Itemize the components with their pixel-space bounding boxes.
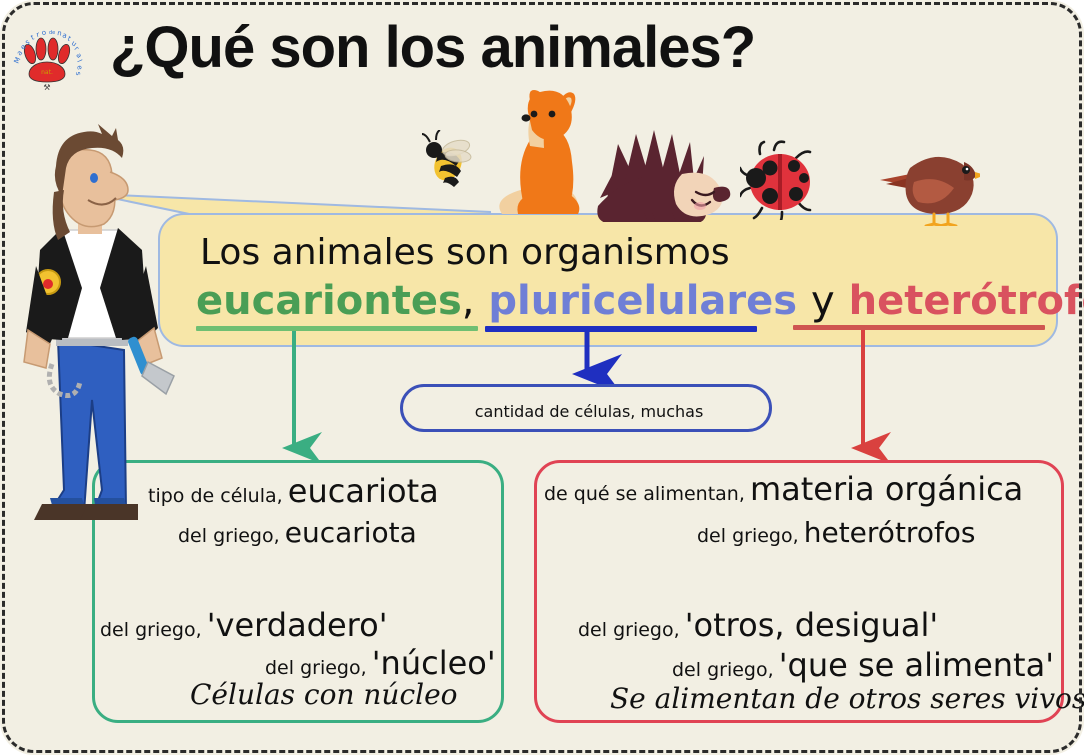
- green-row-4-lead: del griego,: [265, 657, 367, 679]
- red-row-1-term: materia orgánica: [750, 470, 1023, 508]
- cartoon-teacher: [6, 100, 186, 520]
- red-row-3-lead: del griego,: [578, 619, 680, 641]
- green-row-3-lead: del griego,: [100, 619, 202, 641]
- green-row-2-term: eucariota: [285, 516, 417, 549]
- cell-count-box: cantidad de células, muchas: [400, 384, 772, 432]
- red-row-1-lead: de qué se alimentan,: [544, 483, 745, 505]
- green-row-3: del griego, 'verdadero': [100, 606, 388, 644]
- cell-count-text: cantidad de células, muchas: [403, 387, 775, 435]
- svg-text:nat.: nat.: [41, 69, 53, 76]
- svg-text:de: de: [49, 30, 55, 36]
- green-conclusion: Células con núcleo: [190, 678, 458, 711]
- green-row-4-term: 'núcleo': [372, 644, 496, 682]
- svg-text:e: e: [75, 64, 84, 70]
- green-row-4: del griego, 'núcleo': [265, 644, 496, 682]
- green-row-1-term: eucariota: [288, 472, 439, 510]
- bee-illustration: [418, 130, 474, 188]
- red-row-4-lead: del griego,: [672, 659, 774, 681]
- main-statement-line2: eucariontes, pluricelulares y heterótrof…: [196, 278, 1084, 324]
- svg-text:r: r: [36, 30, 41, 38]
- fox-illustration: [488, 88, 596, 218]
- term-eucariontes: eucariontes: [196, 278, 462, 324]
- bird-illustration: [880, 148, 980, 226]
- red-row-2-lead: del griego,: [697, 525, 799, 547]
- red-row-3-term: 'otros, desigual': [685, 606, 938, 644]
- maestro-de-naturales-paw-logo: nat. M a e s t r o de n a t u r a l e s …: [8, 18, 86, 92]
- underline-pluricelulares: [485, 326, 757, 332]
- green-row-2-lead: del griego,: [178, 525, 280, 547]
- hedgehog-illustration: [596, 126, 732, 222]
- underline-eucariontes: [196, 326, 478, 331]
- main-statement-line1: Los animales son organismos: [200, 232, 730, 273]
- svg-text:s: s: [74, 71, 82, 76]
- red-conclusion: Se alimentan de otros seres vivos: [610, 682, 1084, 715]
- red-row-2: del griego, heterótrofos: [697, 516, 976, 549]
- page-title: ¿Qué son los animales?: [110, 14, 755, 81]
- cell-count-lead: cantidad de células,: [475, 402, 636, 421]
- conjunction-y: y: [811, 278, 835, 324]
- svg-text:l: l: [75, 59, 83, 64]
- green-row-1: tipo de célula, eucariota: [148, 472, 439, 510]
- green-row-3-term: 'verdadero': [207, 606, 388, 644]
- svg-text:t: t: [30, 33, 36, 42]
- svg-text:o: o: [41, 29, 46, 37]
- term-pluricelulares: pluricelulares: [488, 278, 797, 324]
- red-row-2-term: heterótrofos: [804, 516, 976, 549]
- green-row-2: del griego, eucariota: [178, 516, 417, 549]
- underline-heterotrofos: [793, 325, 1045, 330]
- red-row-4: del griego, 'que se alimenta': [672, 646, 1054, 684]
- red-row-4-term: 'que se alimenta': [779, 646, 1054, 684]
- infographic-canvas: nat. M a e s t r o de n a t u r a l e s …: [0, 0, 1084, 755]
- svg-text:⚒: ⚒: [43, 83, 50, 92]
- red-row-1: de qué se alimentan, materia orgánica: [544, 470, 1023, 508]
- comma-separator: ,: [462, 278, 475, 324]
- term-heterotrofos: heterótrofos: [849, 278, 1084, 324]
- ladybug-illustration: [740, 140, 818, 220]
- cell-count-term: muchas: [640, 402, 703, 421]
- red-row-3: del griego, 'otros, desigual': [578, 606, 938, 644]
